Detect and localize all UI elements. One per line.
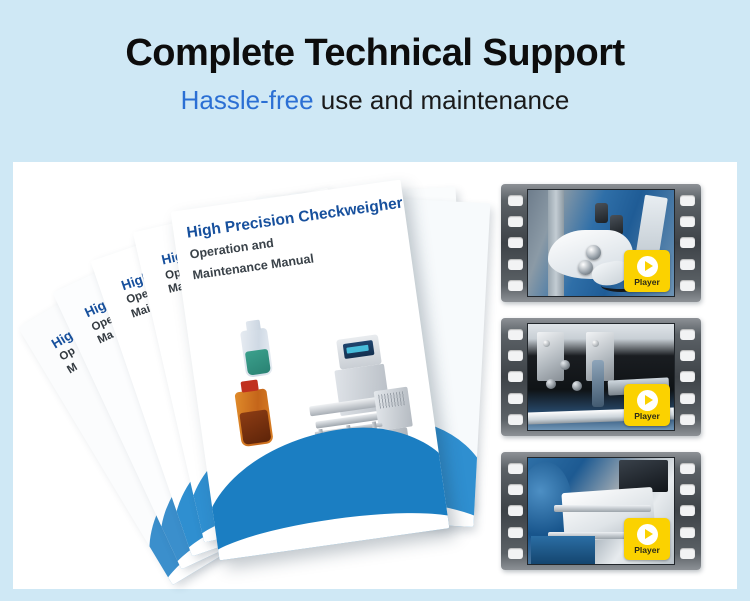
play-button[interactable]: Player: [624, 518, 670, 560]
play-icon: [637, 390, 658, 411]
video-frame: Player: [527, 457, 675, 565]
film-perforations-left-icon: [505, 190, 525, 296]
play-icon: [637, 256, 658, 277]
video-thumbnail[interactable]: Player: [501, 452, 701, 570]
front-manual-cover: High Precision Checkweigher Operation an…: [171, 180, 450, 561]
front-cover-text: High Precision Checkweigher Operation an…: [185, 195, 397, 283]
video-thumbnail[interactable]: Player: [501, 184, 701, 302]
bottle-contents: [245, 348, 271, 375]
play-triangle-icon: [645, 261, 653, 271]
photo-blue-base: [531, 536, 595, 564]
subtitle-rest: use and maintenance: [314, 85, 570, 115]
video-frame: Player: [527, 323, 675, 431]
bottle-contents: [239, 409, 271, 444]
manual-stack: Hig Op M Hig Ope Ma High Oper Mai: [68, 172, 488, 582]
film-perforations-right-icon: [677, 324, 697, 430]
video-thumbnail[interactable]: Player: [501, 318, 701, 436]
content-panel: Hig Op M Hig Ope Ma High Oper Mai: [13, 162, 737, 589]
player-label: Player: [634, 412, 660, 421]
bottle-neck: [245, 320, 260, 332]
play-triangle-icon: [645, 395, 653, 405]
photo-roller: [578, 260, 593, 275]
film-perforations-right-icon: [677, 458, 697, 564]
photo-bolt: [546, 379, 556, 389]
film-perforations-left-icon: [505, 458, 525, 564]
play-icon: [637, 524, 658, 545]
film-perforations-right-icon: [677, 190, 697, 296]
photo-bracket: [537, 332, 565, 381]
play-triangle-icon: [645, 529, 653, 539]
page-title: Complete Technical Support: [0, 32, 750, 76]
subtitle-highlight: Hassle-free: [181, 85, 314, 115]
photo-clamp-bar: [554, 505, 650, 512]
photo-fitting: [595, 203, 608, 223]
video-frame: Player: [527, 189, 675, 297]
player-label: Player: [634, 278, 660, 287]
play-button[interactable]: Player: [624, 384, 670, 426]
video-thumbnail-list: Player: [501, 184, 713, 586]
page-header: Complete Technical Support Hassle-free u…: [0, 0, 750, 163]
front-cover-artwork: High Precision Checkweigher Operation an…: [171, 180, 450, 561]
player-label: Player: [634, 546, 660, 555]
pill-bottle-green-icon: [240, 328, 273, 378]
play-button[interactable]: Player: [624, 250, 670, 292]
film-perforations-left-icon: [505, 324, 525, 430]
page-subtitle: Hassle-free use and maintenance: [0, 85, 750, 116]
bottle-cap: [240, 379, 258, 392]
photo-clip: [592, 360, 604, 407]
pill-bottle-amber-icon: [234, 388, 273, 447]
photo-bolt: [572, 381, 582, 391]
photo-bolt: [560, 360, 570, 370]
